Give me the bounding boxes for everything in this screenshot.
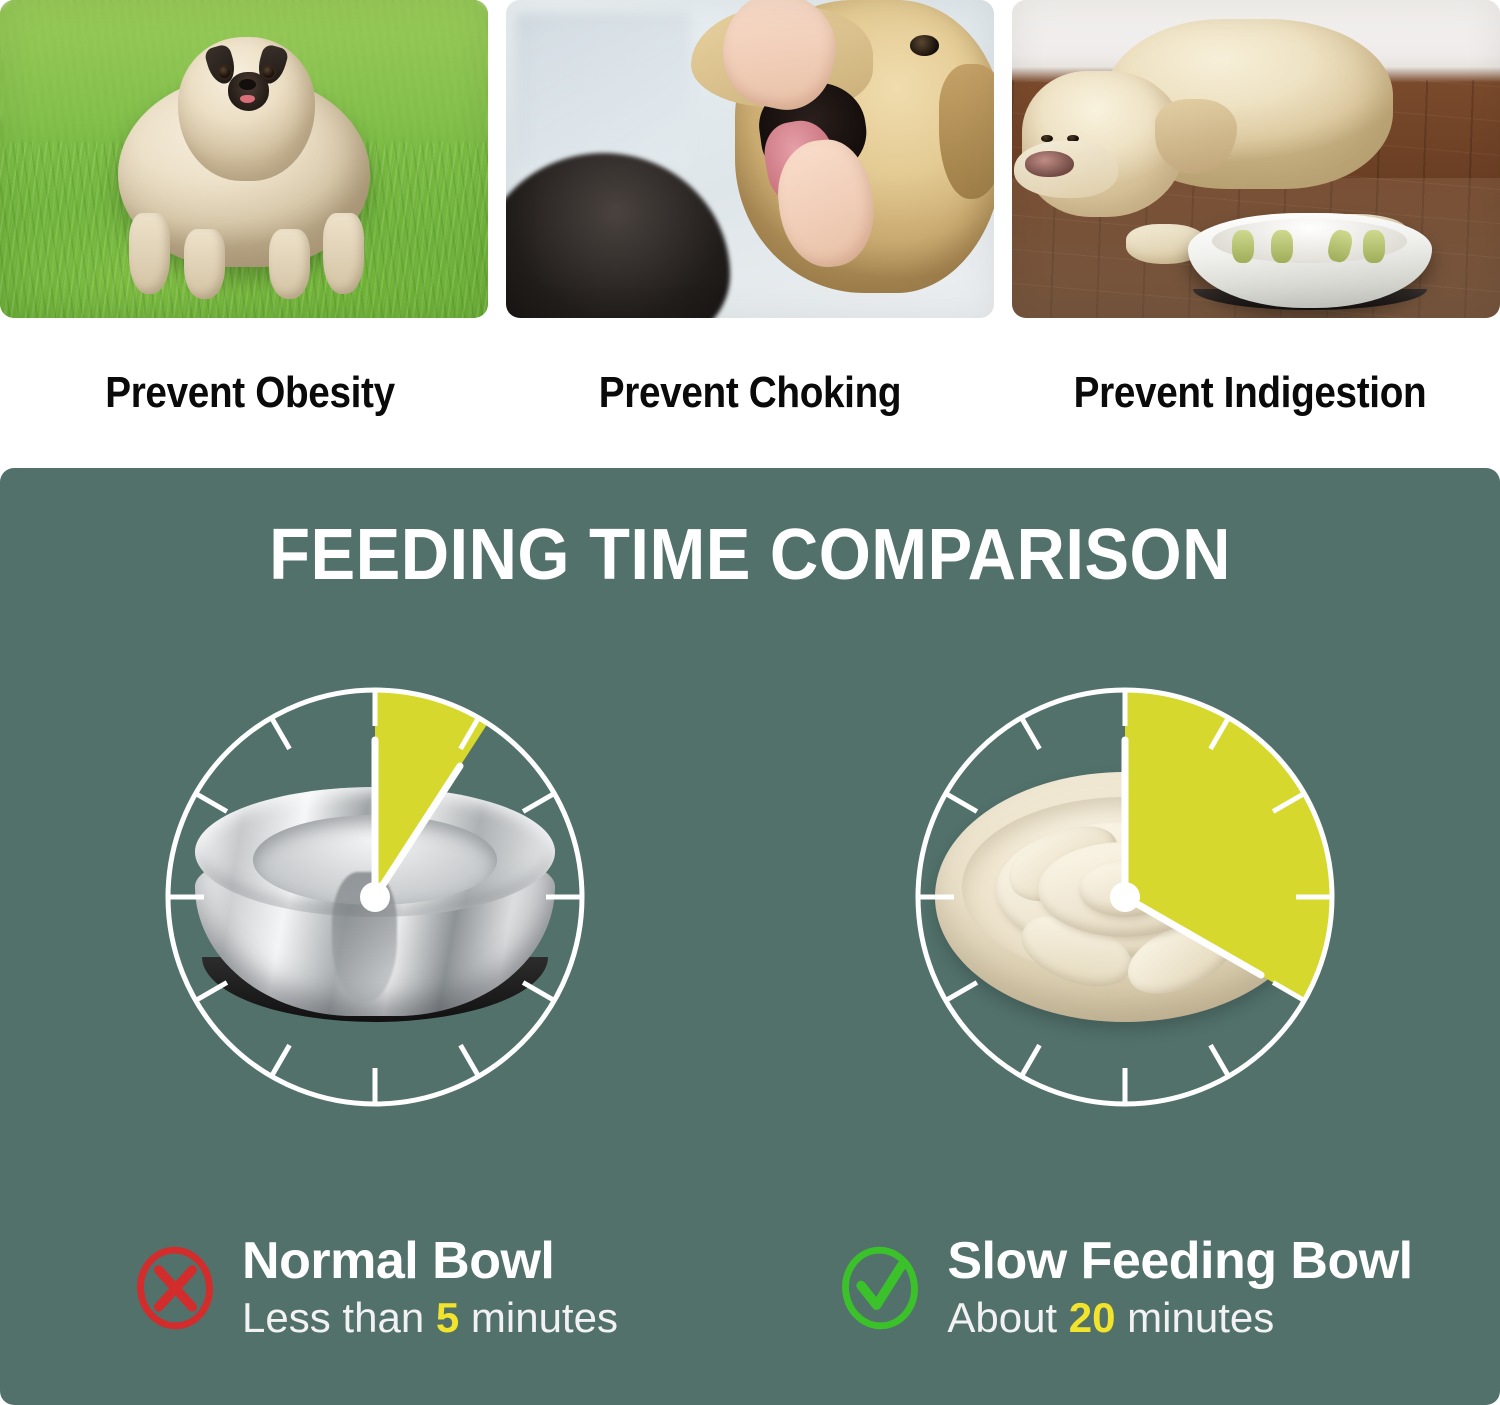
clock-comparison-row [0,678,1500,1116]
result-subtitle-normal-bowl: Less than 5 minutes [242,1293,618,1343]
check-circle-icon [837,1245,923,1331]
benefits-photo-row [0,0,1500,318]
clock-slow-feeding-bowl [906,678,1344,1116]
result-normal-bowl: Normal Bowl Less than 5 minutes [0,1234,750,1344]
result-subtitle-slow-feeding-bowl: About 20 minutes [947,1293,1412,1343]
indigestion-photo [1012,0,1500,318]
clock-face-slow [906,678,1344,1116]
retriever-illustration [691,0,994,318]
benefit-card-choking [506,0,994,318]
clock-face-normal [156,678,594,1116]
pug-photo [0,0,488,318]
result-slow-feeding-bowl: Slow Feeding Bowl About 20 minutes [750,1234,1500,1344]
result-sub-prefix-normal: Less than [242,1294,436,1341]
benefit-card-indigestion [1012,0,1500,318]
panel-title: FEEDING TIME COMPARISON [53,514,1448,596]
cross-circle-icon [132,1245,218,1331]
caption-prevent-indigestion: Prevent Indigestion [1030,368,1470,418]
comparison-results-row: Normal Bowl Less than 5 minutes Slow Fee… [0,1234,1500,1344]
result-sub-suffix-normal: minutes [459,1294,618,1341]
clock-hub-slow [1110,882,1140,912]
floor-bowl [1188,213,1432,308]
caption-prevent-choking: Prevent Choking [530,368,970,418]
result-sub-prefix-slow: About [947,1294,1068,1341]
choking-photo [506,0,994,318]
result-sub-suffix-slow: minutes [1116,1294,1275,1341]
result-sub-value-normal: 5 [436,1294,459,1341]
result-title-normal-bowl: Normal Bowl [242,1234,618,1289]
result-title-slow-feeding-bowl: Slow Feeding Bowl [947,1234,1412,1289]
result-sub-value-slow: 20 [1069,1294,1116,1341]
clock-normal-bowl [156,678,594,1116]
pug-illustration [107,32,380,299]
benefit-card-obesity [0,0,488,318]
caption-prevent-obesity: Prevent Obesity [30,368,470,418]
clock-hub-normal [360,882,390,912]
feeding-time-comparison-panel: FEEDING TIME COMPARISON [0,468,1500,1405]
benefit-captions-row: Prevent Obesity Prevent Choking Prevent … [0,318,1500,468]
